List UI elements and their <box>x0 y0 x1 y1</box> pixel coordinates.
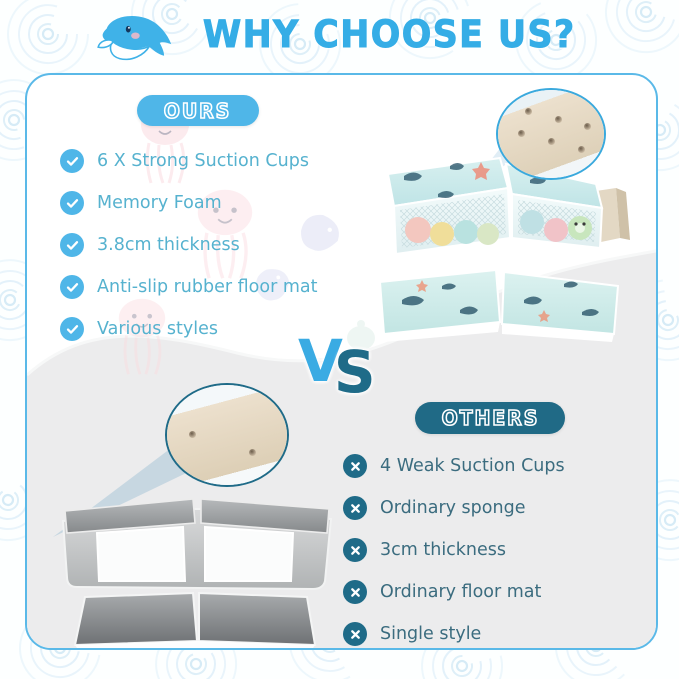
comparison-panel: OURS OTHERS 6 X Strong Suction Cups Memo… <box>25 73 658 650</box>
suction-cup-icon <box>555 116 562 123</box>
list-item-label: 4 Weak Suction Cups <box>380 456 565 476</box>
list-item-label: Single style <box>380 624 481 644</box>
list-item: 3.8cm thickness <box>60 224 360 266</box>
list-item: 4 Weak Suction Cups <box>343 445 643 487</box>
suction-cup-icon <box>249 449 256 456</box>
suction-cup-icon <box>518 130 525 137</box>
whale-icon <box>91 7 177 65</box>
list-item: Memory Foam <box>60 182 360 224</box>
x-circle-icon <box>343 538 367 562</box>
x-circle-icon <box>343 454 367 478</box>
x-circle-icon <box>343 622 367 646</box>
list-item: Ordinary floor mat <box>343 571 643 613</box>
others-suction-cups-magnifier <box>165 383 289 487</box>
list-item-label: 3cm thickness <box>380 540 506 560</box>
vs-s: S <box>334 343 376 401</box>
list-item-label: 3.8cm thickness <box>97 235 240 255</box>
list-item-label: Anti-slip rubber floor mat <box>97 277 317 297</box>
check-circle-icon <box>60 233 84 257</box>
list-item: Anti-slip rubber floor mat <box>60 266 360 308</box>
suction-cup-icon <box>584 123 591 130</box>
list-item: Ordinary sponge <box>343 487 643 529</box>
others-product-photo <box>49 475 339 635</box>
check-circle-icon <box>60 275 84 299</box>
ours-mat-photo <box>374 264 624 344</box>
list-item-label: Ordinary sponge <box>380 498 525 518</box>
ours-feature-list: 6 X Strong Suction Cups Memory Foam 3.8c… <box>60 140 360 350</box>
others-badge: OTHERS <box>415 402 565 434</box>
x-circle-icon <box>343 496 367 520</box>
suction-cup-icon <box>578 146 585 153</box>
suction-cup-icon <box>189 431 196 438</box>
others-feature-list: 4 Weak Suction Cups Ordinary sponge 3cm … <box>343 445 643 650</box>
check-circle-icon <box>60 317 84 341</box>
suction-cup-icon <box>525 108 532 115</box>
header: WHY CHOOSE US? <box>0 0 679 68</box>
ours-badge-label: OURS <box>164 99 231 123</box>
vs-label: VS <box>298 332 376 390</box>
check-circle-icon <box>60 149 84 173</box>
list-item-label: Various styles <box>97 319 218 339</box>
ours-badge: OURS <box>137 95 259 126</box>
list-item: 6 X Strong Suction Cups <box>60 140 360 182</box>
suction-cup-icon <box>548 138 555 145</box>
check-circle-icon <box>60 191 84 215</box>
list-item: 3cm thickness <box>343 529 643 571</box>
list-item-label: Memory Foam <box>97 193 222 213</box>
list-item-label: 6 X Strong Suction Cups <box>97 151 309 171</box>
x-circle-icon <box>343 580 367 604</box>
list-item: Single style <box>343 613 643 650</box>
others-badge-label: OTHERS <box>441 406 539 430</box>
list-item-label: Ordinary floor mat <box>380 582 541 602</box>
page-title: WHY CHOOSE US? <box>203 13 576 56</box>
ours-suction-cups-magnifier <box>496 88 606 180</box>
